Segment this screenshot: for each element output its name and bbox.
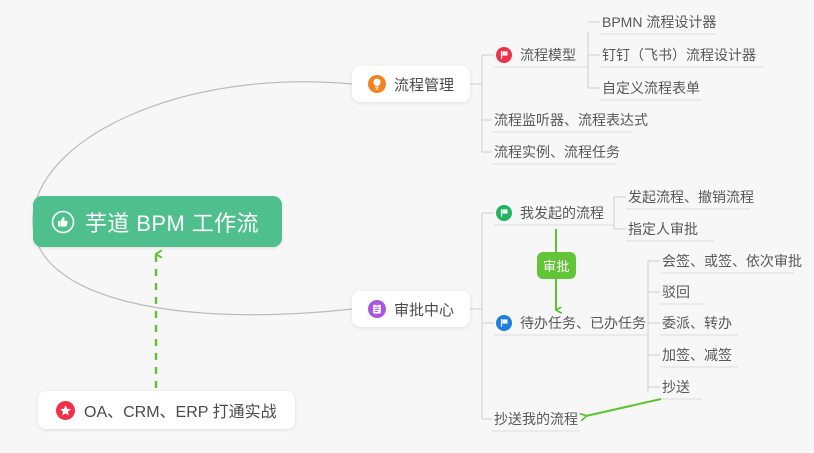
node-cc[interactable]: 抄送 (660, 376, 694, 400)
node-label-assignee-approval: 指定人审批 (628, 219, 698, 239)
thumbs-up-icon (51, 210, 75, 234)
root-node[interactable]: 芋道 BPM 工作流 (33, 196, 282, 247)
node-start-cancel-process[interactable]: 发起流程、撤销流程 (626, 186, 758, 210)
node-label-cc: 抄送 (662, 377, 690, 397)
node-label-my-initiated-process: 我发起的流程 (520, 203, 604, 223)
node-todo-done-tasks[interactable]: 待办任务、已办任务 (494, 312, 650, 336)
node-add-remove-sign[interactable]: 加签、减签 (660, 344, 736, 368)
branch-label-process-management: 流程管理 (394, 74, 454, 95)
flag-icon-green (496, 205, 512, 221)
bottom-note-card[interactable]: OA、CRM、ERP 打通实战 (38, 391, 295, 429)
node-dingtalk-feishu-designer[interactable]: 钉钉（飞书）流程设计器 (600, 44, 760, 68)
node-custom-process-form[interactable]: 自定义流程表单 (600, 77, 704, 101)
node-process-model[interactable]: 流程模型 (494, 44, 580, 68)
node-reject[interactable]: 驳回 (660, 281, 694, 305)
bottom-note-label: OA、CRM、ERP 打通实战 (84, 398, 277, 422)
lightbulb-icon (368, 75, 386, 93)
node-assignee-approval[interactable]: 指定人审批 (626, 218, 702, 242)
node-label-countersign-orsign-sequential: 会签、或签、依次审批 (662, 251, 802, 271)
node-label-cc-to-me-process: 抄送我的流程 (494, 409, 578, 429)
node-label-dingtalk-feishu-designer: 钉钉（飞书）流程设计器 (602, 45, 756, 65)
node-label-custom-process-form: 自定义流程表单 (602, 78, 700, 98)
flag-icon-blue (496, 315, 512, 331)
node-delegate-transfer[interactable]: 委派、转办 (660, 312, 736, 336)
node-label-delegate-transfer: 委派、转办 (662, 313, 732, 333)
node-label-process-instance-task: 流程实例、流程任务 (494, 142, 620, 162)
branch-node-process-management[interactable]: 流程管理 (352, 66, 470, 102)
star-icon (56, 401, 75, 420)
flow-badge-label: 审批 (543, 256, 570, 275)
node-bpmn-designer[interactable]: BPMN 流程设计器 (600, 11, 720, 35)
node-label-add-remove-sign: 加签、减签 (662, 345, 732, 365)
node-process-listener-expression[interactable]: 流程监听器、流程表达式 (492, 109, 652, 133)
clipboard-icon (368, 300, 386, 318)
node-label-bpmn-designer: BPMN 流程设计器 (602, 12, 716, 32)
flow-badge-approval: 审批 (537, 252, 576, 279)
branch-node-approval-center[interactable]: 审批中心 (352, 291, 470, 327)
node-label-todo-done-tasks: 待办任务、已办任务 (520, 313, 646, 333)
flag-icon-red (496, 47, 512, 63)
node-my-initiated-process[interactable]: 我发起的流程 (494, 202, 608, 226)
node-label-reject: 驳回 (662, 282, 690, 302)
node-label-start-cancel-process: 发起流程、撤销流程 (628, 187, 754, 207)
node-label-process-listener-expression: 流程监听器、流程表达式 (494, 110, 648, 130)
node-countersign-orsign-sequential[interactable]: 会签、或签、依次审批 (660, 250, 806, 274)
node-cc-to-me-process[interactable]: 抄送我的流程 (492, 408, 582, 432)
arrow-cc-to-ccme (586, 399, 661, 416)
node-label-process-model: 流程模型 (520, 45, 576, 65)
root-label: 芋道 BPM 工作流 (85, 206, 259, 238)
mindmap-canvas: 芋道 BPM 工作流 流程管理 审批中心 (0, 0, 814, 453)
node-process-instance-task[interactable]: 流程实例、流程任务 (492, 141, 624, 165)
branch-label-approval-center: 审批中心 (394, 299, 454, 320)
